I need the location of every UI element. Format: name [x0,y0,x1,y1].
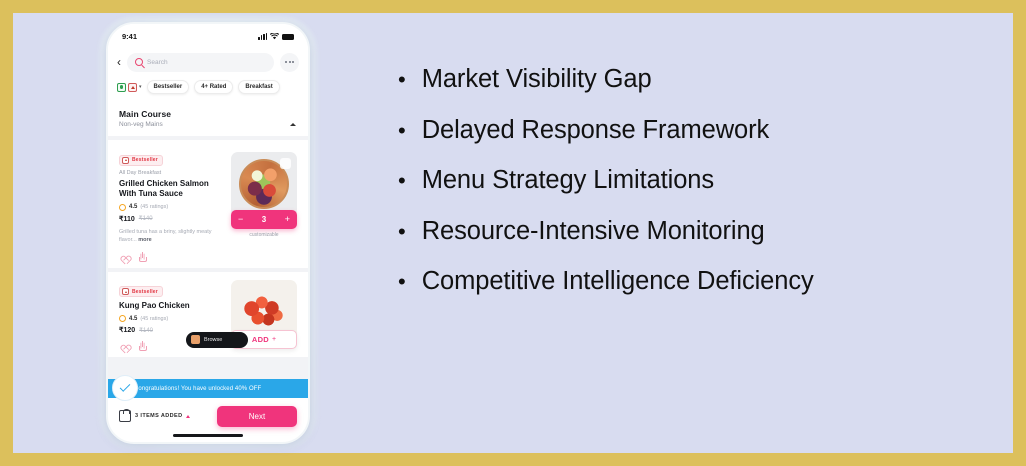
increment-button[interactable]: + [285,215,290,224]
customizable-note: customizable [231,232,297,238]
menu-item-eyebrow: All Day Breakfast [119,170,227,176]
chevron-up-icon[interactable] [186,415,190,418]
bag-icon [119,410,131,422]
price-current: ₹110 [119,215,135,223]
price-original: ₹140 [139,215,153,222]
bestseller-label: Bestseller [132,289,158,295]
quantity-value: 3 [262,216,266,224]
search-input[interactable]: Search [127,53,274,72]
rating-count: (45 ratings) [140,316,168,322]
menu-item-card[interactable]: Bestseller Kung Pao Chicken 4.5 (45 rati… [108,268,308,357]
menu-item-actions [119,252,227,261]
nonveg-icon [122,157,129,164]
bestseller-badge: Bestseller [119,155,163,166]
menu-item-description: Grilled tuna has a briny, slightly meaty… [119,228,221,245]
items-added-label: 3 ITEMS ADDED [135,413,182,419]
star-icon [119,315,126,322]
back-button[interactable]: ‹ [117,56,121,68]
bestseller-label: Bestseller [132,157,158,163]
wifi-icon [270,33,279,40]
congrats-banner: Congratulations! You have unlocked 40% O… [108,379,308,398]
bullet-text: Delayed Response Framework [422,116,769,145]
browse-label: Browse [204,337,222,343]
image-badge [280,158,291,169]
list-item: • Menu Strategy Limitations [398,166,998,195]
menu-item-rating: 4.5 (45 ratings) [119,204,227,211]
browse-icon [191,335,200,344]
rating-value: 4.5 [129,316,137,322]
chevron-down-icon[interactable]: ▾ [139,84,142,90]
share-icon[interactable] [138,252,147,261]
list-item: • Market Visibility Gap [398,65,998,94]
filter-chips-row: ▾ Bestseller 4+ Rated Breakfast [108,76,308,102]
status-time: 9:41 [122,32,137,41]
bullet-text: Competitive Intelligence Deficiency [422,267,814,296]
next-button[interactable]: Next [217,406,297,427]
slide-canvas: 9:41 ‹ [13,13,1013,453]
chevron-up-icon[interactable] [290,123,296,126]
menu-item-name: Kung Pao Chicken [119,301,223,311]
bullet-list: • Market Visibility Gap • Delayed Respon… [398,65,998,296]
bullet-text: Resource-Intensive Monitoring [422,217,765,246]
rating-value: 4.5 [129,204,137,210]
bullet-marker: • [398,69,406,91]
bullet-marker: • [398,221,406,243]
price-current: ₹120 [119,326,135,334]
status-indicators [258,33,294,40]
decrement-button[interactable]: − [238,215,243,224]
filter-chip-breakfast[interactable]: Breakfast [238,80,279,94]
menu-item-card[interactable]: Bestseller All Day Breakfast Grilled Chi… [108,140,308,268]
heart-icon[interactable] [119,252,128,261]
list-item: • Competitive Intelligence Deficiency [398,267,998,296]
check-icon [112,375,138,401]
bullet-text: Market Visibility Gap [422,65,652,94]
battery-icon [282,34,294,40]
list-item: • Delayed Response Framework [398,116,998,145]
signal-icon [258,33,267,40]
plus-icon: + [272,336,276,343]
description-text: Grilled tuna has a briny, slightly meaty… [119,229,212,244]
menu-item-price: ₹110 ₹140 [119,215,227,223]
menu-content[interactable]: Main Course Non-veg Mains Bestseller All… [108,102,308,442]
menu-section-header[interactable]: Main Course Non-veg Mains [108,102,308,140]
bullet-marker: • [398,170,406,192]
section-subtitle: Non-veg Mains [119,121,297,128]
price-original: ₹140 [139,327,153,334]
menu-item-rating: 4.5 (45 ratings) [119,315,227,322]
quantity-stepper-wrap: − 3 + customizable [231,210,297,238]
bullet-marker: • [398,120,406,142]
more-options-button[interactable] [280,53,299,72]
food-chili-graphic [242,295,286,329]
phone-mockup: 9:41 ‹ [93,13,323,453]
browse-pill[interactable]: Browse [186,332,248,348]
search-row: ‹ Search [108,48,308,76]
rating-count: (45 ratings) [140,204,168,210]
home-indicator [173,434,243,437]
add-label: ADD [252,335,269,344]
menu-item-name: Grilled Chicken Salmon With Tuna Sauce [119,179,223,200]
bestseller-badge: Bestseller [119,286,163,297]
filter-chip-rated[interactable]: 4+ Rated [194,80,233,94]
bullet-text: Menu Strategy Limitations [422,166,714,195]
nonveg-icon[interactable] [128,83,137,92]
search-icon [135,58,143,66]
star-icon [119,204,126,211]
menu-item-details: Bestseller All Day Breakfast Grilled Chi… [119,148,227,261]
nonveg-icon [122,288,129,295]
status-bar: 9:41 [108,24,308,48]
search-placeholder: Search [147,59,168,66]
congrats-text: Congratulations! You have unlocked 40% O… [134,386,261,392]
list-item: • Resource-Intensive Monitoring [398,217,998,246]
heart-icon[interactable] [119,341,128,350]
filter-chip-bestseller[interactable]: Bestseller [147,80,190,94]
phone-screen: 9:41 ‹ [108,24,308,442]
bullet-marker: • [398,271,406,293]
phone-frame: 9:41 ‹ [106,22,310,444]
share-icon[interactable] [138,341,147,350]
menu-item-image [231,152,297,218]
veg-nonveg-toggle[interactable]: ▾ [117,83,142,92]
quantity-stepper[interactable]: − 3 + [231,210,297,229]
veg-icon[interactable] [117,83,126,92]
section-title: Main Course [119,109,297,119]
read-more-link[interactable]: more [138,237,151,243]
items-added-summary[interactable]: 3 ITEMS ADDED [119,410,190,422]
